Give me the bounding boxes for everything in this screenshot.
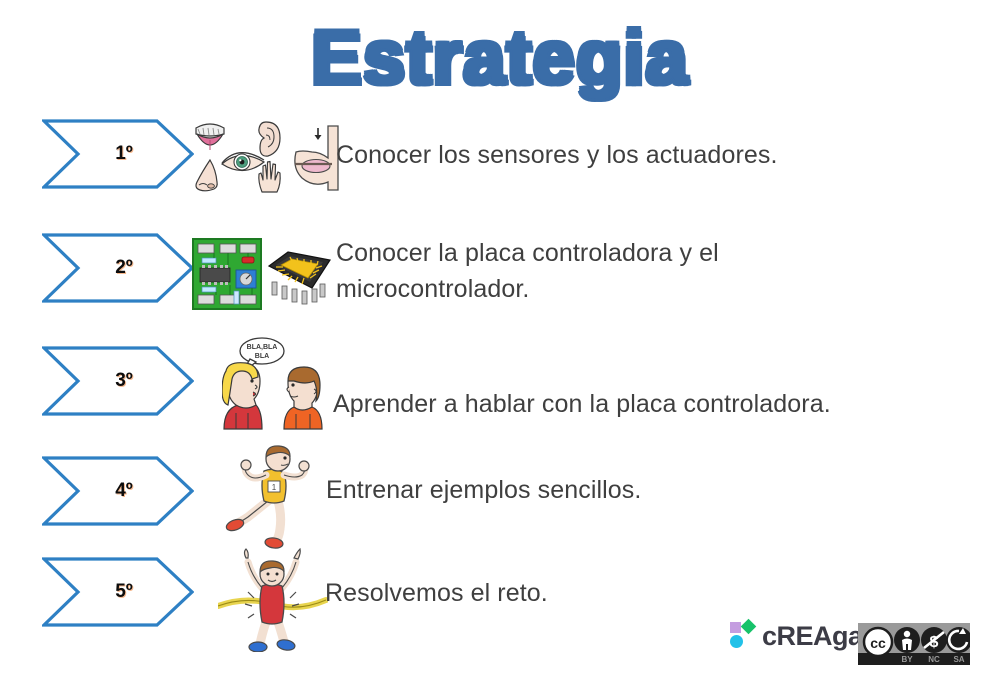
running-athlete-icon: 1 — [222, 445, 326, 549]
step-row-1: 1º — [0, 118, 1000, 214]
step-number-3: 3º — [42, 345, 194, 417]
athlete-crossing-finish-line-icon — [218, 544, 328, 652]
step-row-2: 2º — [0, 232, 1000, 328]
step-number-4: 4º — [42, 455, 194, 527]
page-title: Estrategia — [0, 14, 1000, 101]
five-senses-and-muscle-arm-icon — [190, 116, 340, 196]
step-row-4: 4º 1 — [0, 455, 1000, 551]
slide-canvas: Estrategia 1º — [0, 0, 1000, 699]
creagal-logo-marks — [730, 620, 756, 652]
step-text-2: Conocer la placa controladora y el micro… — [336, 236, 896, 307]
creagal-logo: cREAgal — [730, 620, 870, 652]
runner-bib-number: 1 — [272, 483, 277, 492]
nc-nocommercial-icon: $ — [921, 627, 947, 653]
step-text-3: Aprender a hablar con la placa controlad… — [333, 387, 953, 423]
two-people-talking-icon: BLA,BLA BLA — [222, 335, 334, 435]
step-arrow-2: 2º — [42, 232, 194, 304]
cc-label-sa: SA — [953, 655, 964, 664]
logo-diamond-shape — [741, 619, 757, 635]
creagal-logo-text: cREAgal — [762, 621, 870, 652]
step-number-5: 5º — [42, 556, 194, 628]
step-number-1: 1º — [42, 118, 194, 190]
step-text-1: Conocer los sensores y los actuadores. — [336, 138, 956, 174]
by-person-icon — [894, 627, 920, 653]
cc-circle-icon: cc — [864, 628, 892, 656]
cc-label-nc: NC — [928, 655, 940, 664]
step-text-5: Resolvemos el reto. — [325, 576, 795, 612]
svg-text:cc: cc — [870, 635, 886, 651]
step-arrow-5: 5º — [42, 556, 194, 628]
speech-bubble-line1: BLA,BLA — [247, 344, 278, 351]
logo-circle-shape — [730, 635, 743, 648]
circuit-board-and-microchip-icon — [192, 238, 340, 312]
logo-square-shape — [730, 622, 741, 633]
step-number-2: 2º — [42, 232, 194, 304]
cc-by-nc-sa-badge[interactable]: cc BY $ NC SA — [858, 623, 970, 665]
step-arrow-3: 3º — [42, 345, 194, 417]
step-arrow-4: 4º — [42, 455, 194, 527]
step-text-4: Entrenar ejemplos sencillos. — [326, 473, 866, 509]
cc-label-by: BY — [901, 655, 913, 664]
step-arrow-1: 1º — [42, 118, 194, 190]
speech-bubble-line2: BLA — [255, 353, 269, 360]
step-row-3: 3º BLA,BLA BLA — [0, 345, 1000, 441]
